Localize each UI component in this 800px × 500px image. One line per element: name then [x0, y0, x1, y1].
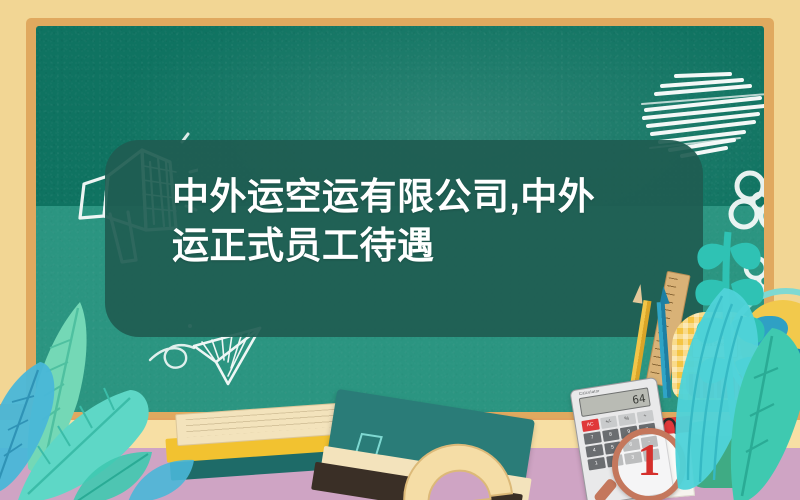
- calculator-key: 8: [602, 428, 620, 441]
- calculator-key: %: [618, 413, 636, 426]
- leaf-icon: [120, 452, 210, 500]
- calculator-key: AC: [581, 419, 599, 432]
- banner-canvas: 中外运空运有限公司,中外 运正式员工待遇 F: [0, 0, 800, 500]
- leaf-icon: [716, 324, 800, 500]
- calculator-key: +/-: [600, 416, 618, 429]
- page-title: 中外运空运有限公司,中外 运正式员工待遇: [172, 172, 642, 270]
- calculator-key: 4: [585, 444, 603, 457]
- calculator-key: 1: [587, 457, 605, 470]
- protractor-hole: [424, 466, 492, 500]
- calculator-key: 7: [583, 431, 601, 444]
